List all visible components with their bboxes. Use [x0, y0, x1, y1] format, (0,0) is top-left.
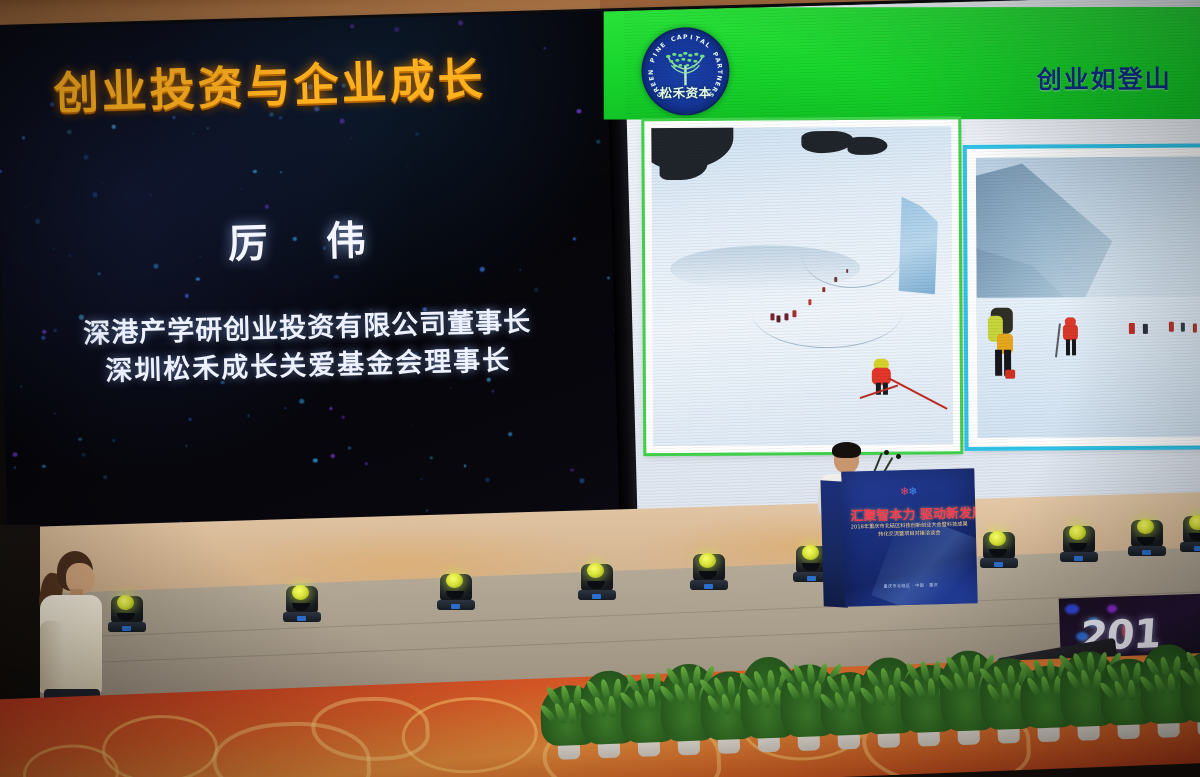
moving-head-stage-light	[1128, 512, 1166, 556]
climber-figure	[1181, 323, 1185, 332]
logo-chinese-name: 松禾资本	[643, 82, 727, 102]
snow-ridge-climbers-photo	[967, 147, 1200, 447]
serac-ice-block	[894, 196, 939, 294]
climber-figure	[792, 310, 796, 317]
rock-outcrop	[659, 150, 707, 180]
speaker-hair	[832, 442, 861, 458]
slide-title-text: 创业投资与企业成长	[53, 50, 594, 120]
moving-head-stage-light	[283, 578, 321, 622]
slide-left-panel: 创业投资与企业成长 厉 伟 深港产学研创业投资有限公司董事长 深圳松禾成长关爱基…	[0, 11, 626, 536]
podium-emblem-icon: ❄❄	[900, 485, 917, 498]
woman-blouse-shadow	[40, 621, 64, 693]
right-slide-title: 创业如登山	[1037, 60, 1172, 97]
climber-figure	[776, 315, 780, 322]
climber-figure	[1169, 322, 1174, 332]
snow-ridge-scene	[976, 156, 1200, 438]
speaker-name-text: 厉 伟	[227, 207, 388, 269]
speaker-podium: ❄❄ 汇聚智本力 驱动新发展 2018年重庆市北碚区科技创新创业大会暨科技成果 …	[841, 468, 977, 606]
microphone-head	[896, 454, 901, 459]
moving-head-stage-light	[980, 524, 1018, 568]
plant-leaf	[727, 676, 735, 697]
climber-figure	[808, 299, 811, 305]
climber-figure	[1143, 324, 1148, 334]
plant-leaf	[767, 670, 775, 691]
plant-leaf	[1007, 665, 1015, 686]
climber-figure	[834, 277, 837, 282]
climber-figure	[822, 287, 825, 292]
climber-figure	[784, 313, 788, 320]
microphone-head	[884, 450, 889, 455]
moving-head-stage-light	[1180, 508, 1200, 552]
stage-plant-row	[538, 618, 1200, 763]
climber-figure	[770, 313, 774, 320]
plant-leaf	[1086, 652, 1094, 673]
moving-head-stage-light	[1060, 518, 1098, 562]
moving-head-stage-light	[437, 566, 475, 610]
climbing-rope	[888, 377, 947, 409]
plant-leaf	[1047, 659, 1055, 680]
rock-outcrop	[801, 131, 853, 153]
rock-outcrop	[847, 137, 887, 155]
podium-front-panel: ❄❄ 汇聚智本力 驱动新发展 2018年重庆市北碚区科技创新创业大会暨科技成果 …	[841, 468, 977, 606]
climb-route-line	[752, 277, 902, 349]
scene-root: 创业投资与企业成长 厉 伟 深港产学研创业投资有限公司董事长 深圳松禾成长关爱基…	[0, 0, 1200, 777]
moving-head-stage-light	[690, 546, 728, 590]
climber-figure	[1129, 323, 1135, 334]
green-pine-capital-logo: GREEN PINE CAPITAL PARTNERS	[641, 27, 730, 116]
speaker-titles: 深港产学研创业投资有限公司董事长 深圳松禾成长关爱基金会理事长	[2, 301, 614, 394]
plant-leaf	[807, 663, 815, 684]
moving-head-stage-light	[578, 556, 616, 600]
climb-route-line	[802, 223, 902, 289]
slide-right-panel: GREEN PINE CAPITAL PARTNERS	[624, 0, 1200, 519]
led-presentation-screen: 创业投资与企业成长 厉 伟 深港产学研创业投资有限公司董事长 深圳松禾成长关爱基…	[0, 0, 1200, 536]
glacier-scene	[651, 126, 953, 446]
climber-figure	[1193, 324, 1197, 333]
glacier-climbers-photo	[644, 119, 960, 453]
